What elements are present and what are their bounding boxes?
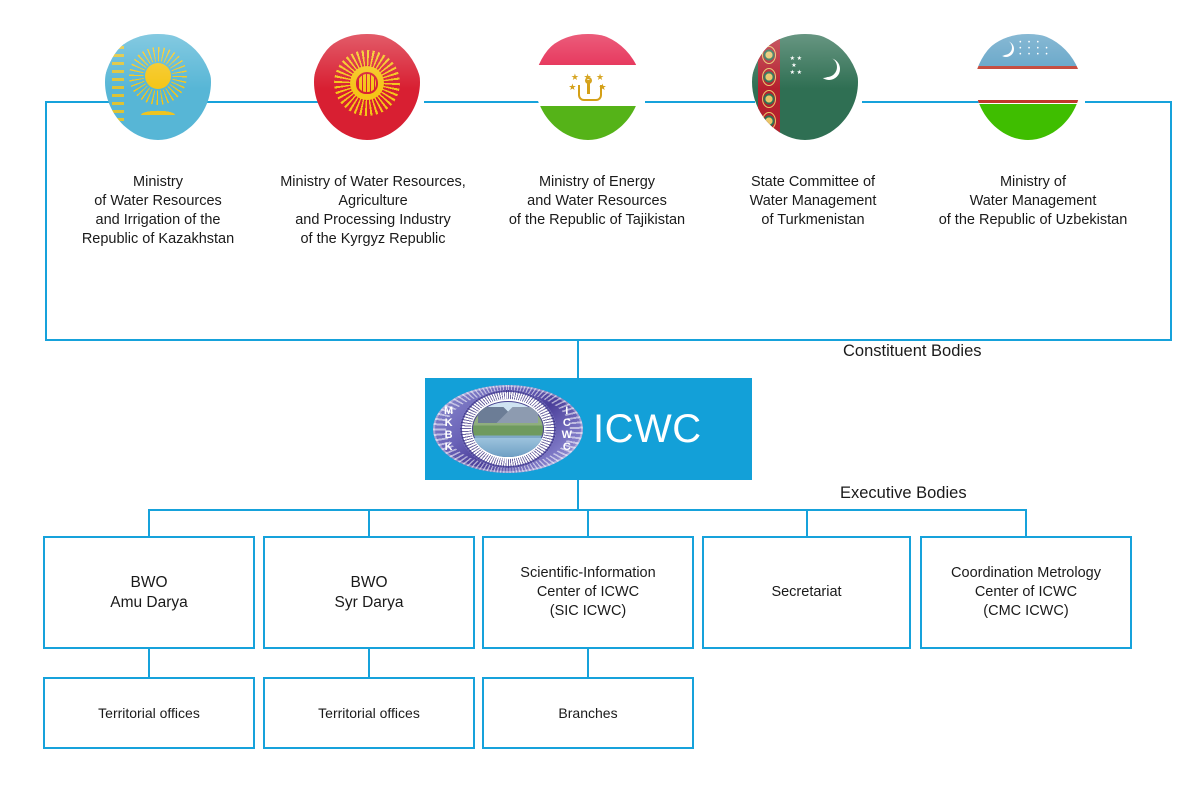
executive-box-bwo-amu-darya[interactable]: BWO Amu Darya bbox=[43, 536, 255, 649]
connector-rail-to-secretariat bbox=[806, 509, 808, 537]
member-label-tajikistan: Ministry of Energy and Water Resources o… bbox=[478, 173, 716, 230]
org-chart-canvas: ★ ★ ★★ ★ ★ ★ ★★ ★ bbox=[0, 0, 1200, 810]
connector-rail-to-bwo-amu-darya bbox=[148, 509, 150, 537]
executive-bodies-label: Executive Bodies bbox=[840, 484, 967, 503]
flag-kazakhstan bbox=[103, 32, 213, 142]
emblem-landscape-scene bbox=[472, 401, 544, 457]
connector-constituent-to-icwc bbox=[577, 341, 579, 379]
member-label-kazakhstan: Ministry of Water Resources and Irrigati… bbox=[58, 173, 258, 249]
emblem-mountains bbox=[478, 407, 538, 423]
uz-white-band bbox=[973, 69, 1083, 100]
member-label-turkmenistan: State Committee of Water Management of T… bbox=[718, 173, 908, 230]
sub-box-label: Territorial offices bbox=[318, 704, 420, 722]
flag-tajikistan: ★ ★ ★★ ★ bbox=[533, 32, 643, 142]
executive-box-sic-icwc[interactable]: Scientific-Information Center of ICWC (S… bbox=[482, 536, 694, 649]
emblem-left-acronym: M K B K bbox=[444, 405, 453, 453]
turkmenistan-flag: ★ ★ ★★ ★ bbox=[750, 32, 860, 142]
tm-carpet-stripe bbox=[758, 32, 780, 142]
frame-top-rail-seg-4 bbox=[645, 101, 755, 103]
connector-icwc-to-executive-rail bbox=[577, 480, 579, 510]
tm-gul-1 bbox=[762, 46, 776, 64]
connector-rail-to-sic-icwc bbox=[587, 509, 589, 537]
executive-box-label: Secretariat bbox=[771, 583, 841, 602]
frame-top-right-corner bbox=[1170, 101, 1172, 341]
kg-tunduk bbox=[356, 72, 378, 94]
tj-crown bbox=[578, 85, 602, 101]
tj-red-band bbox=[533, 32, 643, 65]
frame-top-left-corner bbox=[45, 101, 47, 341]
frame-top-rail-seg-2 bbox=[196, 101, 321, 103]
member-label-kyrgyzstan: Ministry of Water Resources, Agriculture… bbox=[258, 173, 488, 249]
sub-box-label: Territorial offices bbox=[98, 704, 200, 722]
uz-stars: • • •• • • •• • • • bbox=[1019, 40, 1063, 62]
executive-box-cmc-icwc[interactable]: Coordination Metrology Center of ICWC (C… bbox=[920, 536, 1132, 649]
kazakhstan-flag bbox=[103, 32, 213, 142]
flag-turkmenistan: ★ ★ ★★ ★ bbox=[750, 32, 860, 142]
kz-sun bbox=[145, 63, 171, 89]
flag-kyrgyzstan bbox=[312, 32, 422, 142]
frame-top-rail-seg-3 bbox=[424, 101, 539, 103]
frame-bottom-rail bbox=[45, 339, 1172, 341]
tm-gul-2 bbox=[762, 68, 776, 86]
sub-box-branches[interactable]: Branches bbox=[482, 677, 694, 749]
sub-box-territorial-offices-amu[interactable]: Territorial offices bbox=[43, 677, 255, 749]
frame-top-rail-seg-6 bbox=[1085, 101, 1172, 103]
emblem-right-acronym: I C W C bbox=[562, 405, 572, 453]
emblem-river bbox=[472, 438, 544, 457]
sub-box-territorial-offices-syr[interactable]: Territorial offices bbox=[263, 677, 475, 749]
frame-top-rail-seg-5 bbox=[862, 101, 982, 103]
kz-ornament bbox=[112, 38, 124, 136]
connector-sic-icwc-to-child bbox=[587, 649, 589, 677]
constituent-bodies-label: Constituent Bodies bbox=[843, 342, 982, 361]
frame-top-rail-seg-1 bbox=[45, 101, 111, 103]
executive-box-label: Scientific-Information Center of ICWC (S… bbox=[520, 564, 655, 621]
executive-box-label: BWO Syr Darya bbox=[335, 573, 404, 613]
icwc-center-box[interactable]: M K B K I C W C ICWC bbox=[425, 378, 752, 480]
uz-crescent bbox=[993, 40, 1009, 56]
tajikistan-flag: ★ ★ ★★ ★ bbox=[533, 32, 643, 142]
icwc-emblem: M K B K I C W C bbox=[433, 385, 583, 473]
kyrgyzstan-flag bbox=[312, 32, 422, 142]
tm-crescent bbox=[812, 56, 834, 78]
tm-gul-3 bbox=[762, 90, 776, 108]
uzbekistan-flag: • • •• • • •• • • • bbox=[973, 32, 1083, 142]
icwc-title: ICWC bbox=[593, 407, 702, 452]
emblem-inner-disc bbox=[460, 390, 556, 468]
kz-eagle bbox=[130, 99, 186, 115]
connector-bwo-syr-darya-to-child bbox=[368, 649, 370, 677]
executive-box-label: Coordination Metrology Center of ICWC (C… bbox=[951, 564, 1101, 621]
executive-box-bwo-syr-darya[interactable]: BWO Syr Darya bbox=[263, 536, 475, 649]
connector-rail-to-cmc-icwc bbox=[1025, 509, 1027, 537]
executive-box-label: BWO Amu Darya bbox=[110, 573, 188, 613]
executive-box-secretariat[interactable]: Secretariat bbox=[702, 536, 911, 649]
member-label-uzbekistan: Ministry of Water Management of the Repu… bbox=[908, 173, 1158, 230]
uz-green-band bbox=[973, 104, 1083, 143]
connector-bwo-amu-darya-to-child bbox=[148, 649, 150, 677]
flag-uzbekistan: • • •• • • •• • • • bbox=[973, 32, 1083, 142]
sub-box-label: Branches bbox=[558, 704, 617, 722]
tm-gul-4 bbox=[762, 112, 776, 130]
tj-green-band bbox=[533, 106, 643, 142]
connector-rail-to-bwo-syr-darya bbox=[368, 509, 370, 537]
